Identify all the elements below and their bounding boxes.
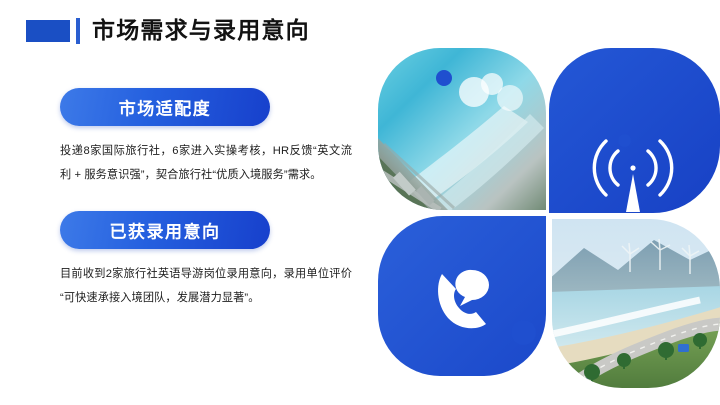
section-badge-offer-intent: 已获录用意向 [60, 211, 270, 249]
section-badge-market-fit: 市场适配度 [60, 88, 270, 126]
title-decoration-block [26, 20, 70, 42]
page-title: 市场需求与录用意向 [92, 11, 310, 45]
pinwheel-svg [378, 48, 720, 388]
accent-dot-right [618, 134, 631, 147]
accent-dot-top-left [436, 70, 452, 86]
section-body-market-fit: 投递8家国际旅行社，6家进入实操考核，HR反馈“英文流利 + 服务意识强”，契合… [60, 139, 352, 187]
slide-canvas: 市场需求与录用意向 市场适配度 投递8家国际旅行社，6家进入实操考核，HR反馈“… [0, 0, 720, 405]
title-decoration-bar [76, 18, 80, 44]
accent-dot-bottom [511, 320, 536, 345]
section-badge-label: 市场适配度 [60, 95, 270, 120]
petal-bottom-right-photo [548, 216, 720, 388]
section-body-offer-intent: 目前收到2家旅行社英语导游岗位录用意向，录用单位评价“可快速承接入境团队，发展潜… [60, 262, 352, 310]
petal-left-photo [378, 48, 554, 220]
pinwheel-collage [378, 48, 720, 388]
content-column: 市场适配度 投递8家国际旅行社，6家进入实操考核，HR反馈“英文流利 + 服务意… [60, 88, 360, 321]
section-badge-label: 已获录用意向 [60, 218, 270, 243]
